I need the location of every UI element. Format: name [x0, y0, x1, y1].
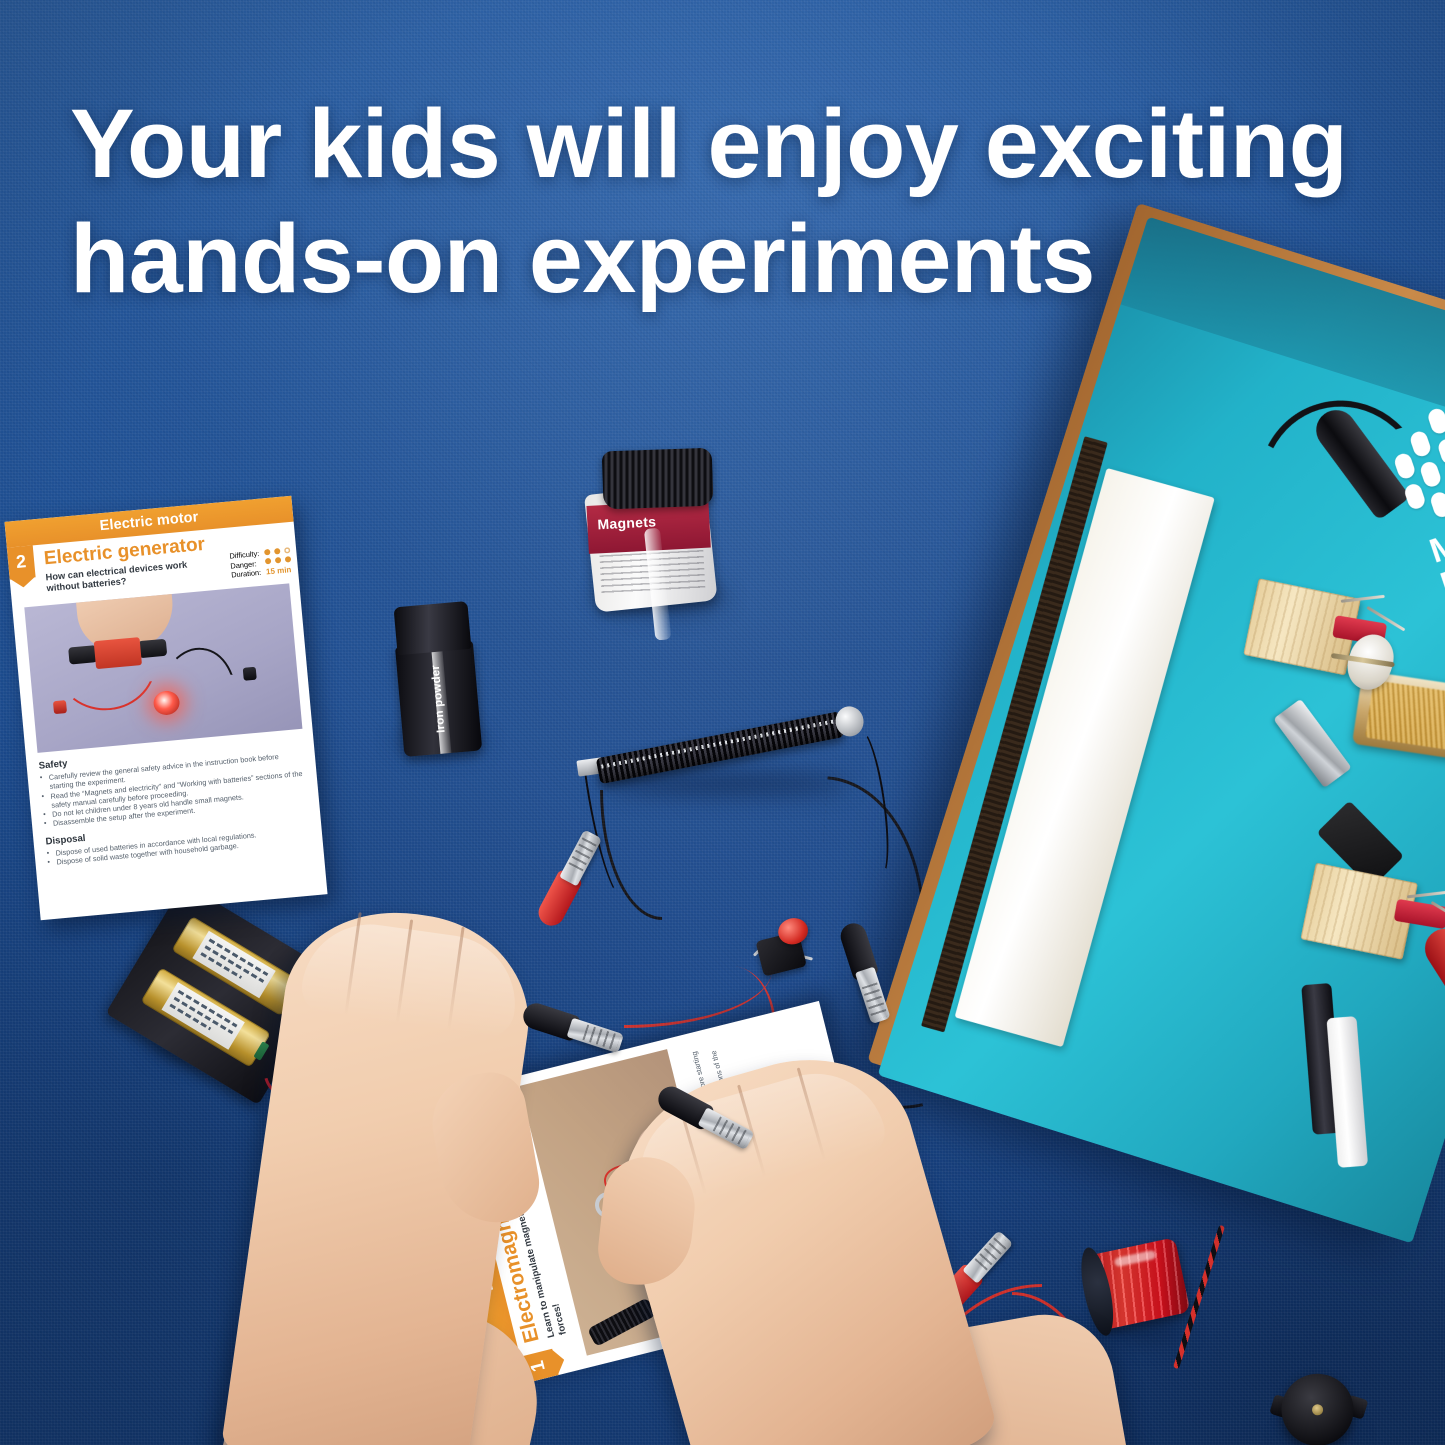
card2-photo-grip-right [138, 639, 167, 658]
solenoid-coil [569, 682, 883, 843]
vial-cap [394, 601, 472, 655]
card2-number-badge: 2 [7, 545, 36, 579]
led-indicator [745, 908, 830, 988]
battery-label-2 [161, 982, 244, 1050]
box-bottle-b [1326, 1016, 1368, 1168]
vial-body: Iron powder [395, 641, 482, 757]
card2-photo [24, 583, 302, 753]
clip-jaw [962, 1230, 1013, 1284]
card2-photo-red-connector [53, 700, 67, 714]
page-title: Your kids will enjoy exciting hands-on e… [70, 86, 1360, 317]
card2-difficulty-dots [264, 547, 290, 555]
kit-box: MEL Physics [878, 217, 1445, 1244]
box-inner-tray: MEL Physics [878, 217, 1445, 1244]
solenoid-windings [596, 711, 844, 784]
box-metal-clip [1273, 699, 1351, 788]
card2-danger-dots [265, 556, 291, 564]
piezo-buzzer [1268, 1356, 1371, 1445]
card2-duration-value: 15 min [266, 565, 293, 576]
box-motor-windings [1365, 680, 1445, 756]
card1-photo-coil [587, 1297, 656, 1347]
experiment-card-electric-generator[interactable]: Electric motor 2 Electric generator How … [4, 496, 327, 920]
battery-label-1 [192, 931, 275, 999]
card2-meta-labels: Difficulty: Danger: Duration: [229, 549, 261, 580]
card2-meta: Difficulty: Danger: Duration: 15 min [229, 546, 292, 580]
buzzer-body [1279, 1371, 1357, 1445]
card2-photo-grip-left [68, 645, 97, 664]
clip-jaw [559, 829, 602, 886]
card2-photo-black-connector [243, 667, 257, 681]
foam-insert [955, 468, 1215, 1047]
clip-jaw [567, 1018, 625, 1054]
card2-label-duration: Duration: [231, 568, 262, 580]
buzzer-sound-hole [1312, 1404, 1324, 1416]
magnets-jar: Magnets [574, 443, 738, 618]
battery-terminal-2 [253, 1041, 269, 1061]
iron-powder-vial: Iron powder [384, 600, 489, 759]
card2-photo-red-wire [56, 660, 160, 715]
promo-image: Your kids will enjoy exciting hands-on e… [0, 0, 1445, 1445]
jar-cap [602, 448, 714, 510]
wire-spool [1074, 1222, 1202, 1350]
card2-meta-values: 15 min [264, 546, 293, 577]
box-red-probe [1417, 921, 1445, 1042]
